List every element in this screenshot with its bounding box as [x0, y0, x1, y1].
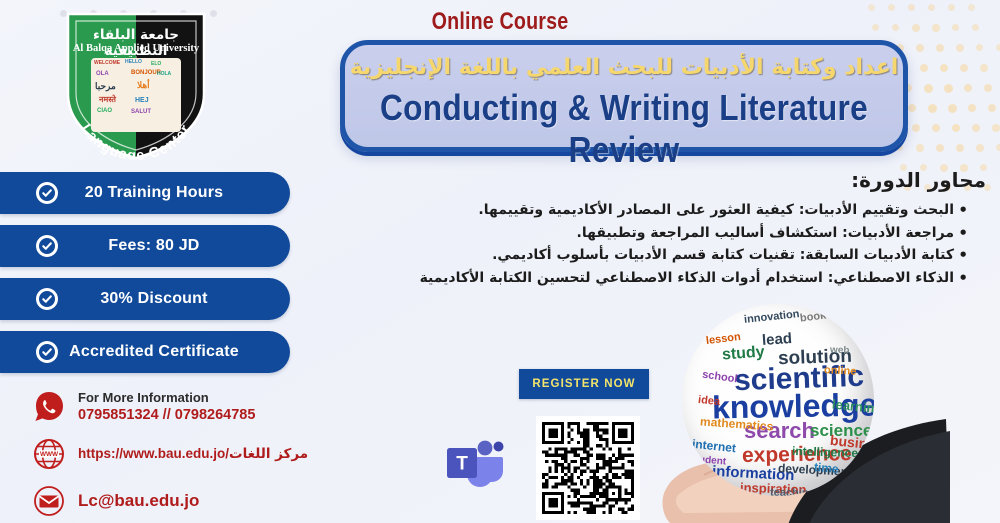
topics-list: البحث وتقييم الأدبيات: كيفية العثور على … [366, 199, 986, 290]
decorative-dot [984, 84, 992, 92]
logo-university-name-english: Al Balqa Applied University [60, 43, 212, 54]
globe-www-icon: WWW [30, 435, 68, 473]
logo-wordcloud-term: HEJ [135, 97, 149, 104]
globe-in-hand-image: scientificknowledgesearchscienceexperien… [660, 300, 920, 523]
decorative-dot [908, 104, 916, 112]
svg-text:WWW: WWW [40, 451, 59, 458]
globe-word: online [824, 365, 857, 378]
decorative-dot [916, 144, 924, 152]
whatsapp-phone-icon [30, 388, 68, 426]
globe-word: study [721, 345, 765, 364]
course-title-box: اعداد وكتابة الأدبيات للبحث العلمي باللغ… [340, 40, 908, 152]
contact-block: For More Information 0795851324 // 07982… [30, 388, 360, 523]
decorative-dot [936, 144, 944, 152]
decorative-dot [996, 44, 1000, 51]
decorative-dot [944, 84, 953, 93]
decorative-dot [948, 4, 955, 11]
logo-wordcloud-term: WELCOME [94, 61, 120, 66]
check-circle-icon [36, 341, 58, 363]
decorative-dot [912, 24, 920, 32]
decorative-dot [956, 44, 964, 52]
feature-pill: 30% Discount [0, 278, 290, 320]
decorative-dot [988, 104, 996, 112]
globe-word: book [799, 310, 826, 324]
logo-wordcloud-term: مرحبا [95, 82, 116, 91]
registration-qr-code[interactable] [536, 416, 640, 520]
word-cloud-globe: scientificknowledgesearchscienceexperien… [682, 304, 874, 496]
decorative-dot [936, 44, 944, 52]
feature-pill-label: Fees: 80 JD [58, 237, 290, 255]
feature-pill: 20 Training Hours [0, 172, 290, 214]
contact-phone-row: For More Information 0795851324 // 07982… [30, 388, 360, 426]
decorative-dot [972, 24, 979, 31]
contact-website[interactable]: https://www.bau.edu.jo/مركز اللغات [78, 446, 308, 462]
logo-wordcloud-term: أهلا [137, 81, 150, 90]
check-circle-icon [36, 288, 58, 310]
decorative-dot [932, 24, 940, 32]
envelope-icon [30, 482, 68, 520]
contact-heading: For More Information [78, 390, 255, 406]
contact-website-url: https://www.bau.edu.jo/ [78, 446, 229, 461]
globe-word: web [830, 346, 850, 357]
decorative-dot [968, 104, 976, 112]
logo-language-center-text: Language Center [60, 104, 212, 160]
logo-wordcloud-term: नमस्ते [99, 96, 116, 104]
decorative-dot [916, 44, 924, 52]
logo-wordcloud-term: OLA [96, 71, 109, 77]
eyebrow-online-course: Online Course [90, 8, 910, 36]
globe-word: intelligence [792, 445, 858, 459]
decorative-dot [996, 144, 1000, 151]
decorative-dot [920, 64, 928, 72]
logo-wordcloud-term: HELLO [125, 60, 142, 65]
decorative-dot [956, 144, 964, 152]
topic-item: مراجعة الأدبيات: استكشاف أساليب المراجعة… [366, 222, 968, 245]
svg-text:T: T [456, 454, 468, 475]
course-title-arabic: اعداد وكتابة الأدبيات للبحث العلمي باللغ… [345, 55, 903, 80]
register-now-button[interactable]: REGISTER NOW [519, 369, 649, 399]
decorative-dot [952, 124, 960, 132]
decorative-dot [972, 124, 980, 132]
contact-phone-numbers[interactable]: 0795851324 // 0798264785 [78, 406, 255, 424]
contact-website-arabic: مركز اللغات [229, 446, 308, 462]
feature-pill-list: 20 Training Hours Fees: 80 JD 30% Discou… [0, 172, 290, 384]
topic-item: كتابة الأدبيات السابقة: تقنيات كتابة قسم… [366, 244, 968, 267]
logo-wordcloud-term: ELO [151, 62, 161, 67]
qr-code-svg [542, 422, 634, 514]
globe-word: innovation [744, 309, 800, 326]
globe-word: internet [691, 438, 736, 455]
flyer-canvas: جامعة البلقاء التطبيقية Al Balqa Applied… [0, 0, 1000, 523]
contact-website-row: WWW https://www.bau.edu.jo/مركز اللغات [30, 435, 360, 473]
globe-word: teaching [770, 488, 815, 496]
decorative-dot [964, 84, 972, 92]
topic-item: الذكاء الاصطناعي: استخدام أدوات الذكاء ا… [366, 267, 968, 290]
decorative-dot [976, 144, 984, 152]
globe-word: lead [762, 331, 793, 348]
course-title-english: Conducting & Writing Literature Review [378, 87, 869, 171]
feature-pill: Accredited Certificate [0, 331, 290, 373]
check-circle-icon [36, 182, 58, 204]
decorative-dot [992, 124, 1000, 132]
decorative-dot [952, 24, 959, 31]
decorative-dot [928, 4, 935, 11]
check-circle-icon [36, 235, 58, 257]
decorative-dot [928, 104, 937, 113]
contact-email-row: Lc@bau.edu.jo [30, 482, 360, 520]
decorative-dot [968, 4, 975, 11]
decorative-dot [932, 124, 940, 132]
feature-pill-label: Accredited Certificate [58, 343, 290, 361]
decorative-dot [980, 64, 988, 72]
contact-email[interactable]: Lc@bau.edu.jo [78, 491, 199, 511]
feature-pill: Fees: 80 JD [0, 225, 290, 267]
decorative-dot [960, 64, 968, 72]
decorative-dot [912, 124, 920, 132]
globe-word: time [814, 461, 840, 475]
decorative-dot [948, 104, 957, 113]
topic-item: البحث وتقييم الأدبيات: كيفية العثور على … [366, 199, 968, 222]
globe-word: idea [697, 395, 720, 408]
globe-word: mathematics [700, 415, 774, 432]
microsoft-teams-icon[interactable]: T [443, 436, 507, 492]
feature-pill-label: 30% Discount [58, 290, 290, 308]
topics-heading: محاور الدورة: [366, 168, 986, 192]
course-topics-section: محاور الدورة: البحث وتقييم الأدبيات: كيف… [366, 168, 986, 290]
logo-wordcloud-term: HOLA [157, 72, 171, 77]
globe-word: school [701, 370, 738, 386]
feature-pill-label: 20 Training Hours [58, 184, 290, 202]
svg-text:Language Center: Language Center [78, 121, 195, 160]
decorative-dot [924, 84, 933, 93]
decorative-dot [940, 64, 948, 72]
decorative-dot [976, 44, 983, 51]
